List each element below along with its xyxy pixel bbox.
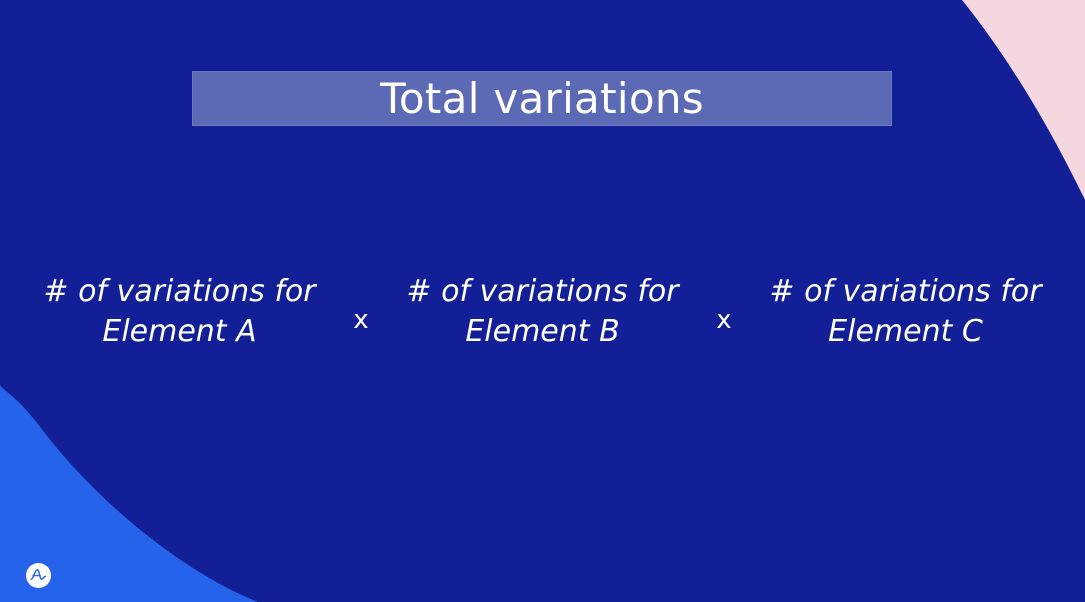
formula-operator-1: x bbox=[345, 289, 378, 335]
formula-term-a-line1: # of variations for bbox=[15, 272, 345, 312]
formula-term-element-a: # of variations for Element A bbox=[15, 272, 345, 352]
formula-operator-2: x bbox=[708, 289, 741, 335]
formula-term-b-line1: # of variations for bbox=[378, 272, 708, 312]
page-title: Total variations bbox=[380, 78, 704, 120]
amplitude-mark-icon bbox=[29, 566, 48, 585]
formula-term-a-line2: Element A bbox=[15, 312, 345, 352]
slide-canvas: Total variations # of variations for Ele… bbox=[0, 0, 1085, 602]
formula-term-b-line2: Element B bbox=[378, 312, 708, 352]
formula-term-c-line2: Element C bbox=[741, 312, 1071, 352]
formula-row: # of variations for Element A x # of var… bbox=[0, 258, 1085, 366]
formula-term-c-line1: # of variations for bbox=[741, 272, 1071, 312]
amplitude-logo-icon bbox=[26, 563, 51, 588]
title-banner: Total variations bbox=[192, 71, 892, 126]
formula-term-element-c: # of variations for Element C bbox=[741, 272, 1071, 352]
formula-term-element-b: # of variations for Element B bbox=[378, 272, 708, 352]
